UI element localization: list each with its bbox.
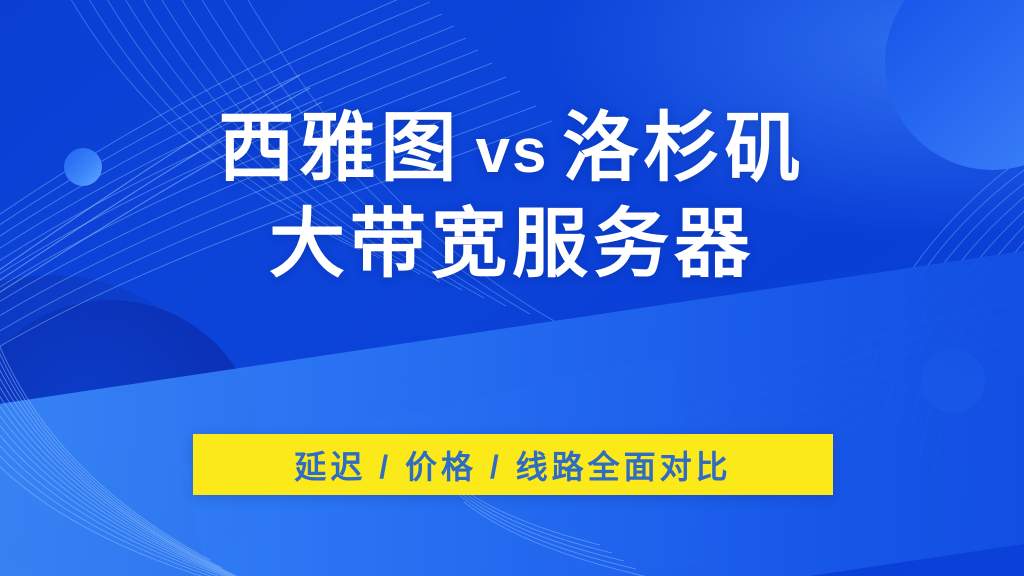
title-city-losangeles: 洛杉矶 <box>562 106 805 191</box>
subtitle-ribbon-text: 延迟 / 价格 / 线路全面对比 <box>294 442 731 488</box>
subtitle-ribbon: 延迟 / 价格 / 线路全面对比 <box>193 434 833 495</box>
title-city-seattle: 西雅图 <box>219 106 462 191</box>
title-line-1: 西雅图vs洛杉矶 <box>219 104 806 194</box>
poster-banner: 西雅图vs洛杉矶 大带宽服务器 延迟 / 价格 / 线路全面对比 <box>0 0 1024 576</box>
title-vs: vs <box>462 117 563 186</box>
title-line-2: 大带宽服务器 <box>269 200 755 290</box>
